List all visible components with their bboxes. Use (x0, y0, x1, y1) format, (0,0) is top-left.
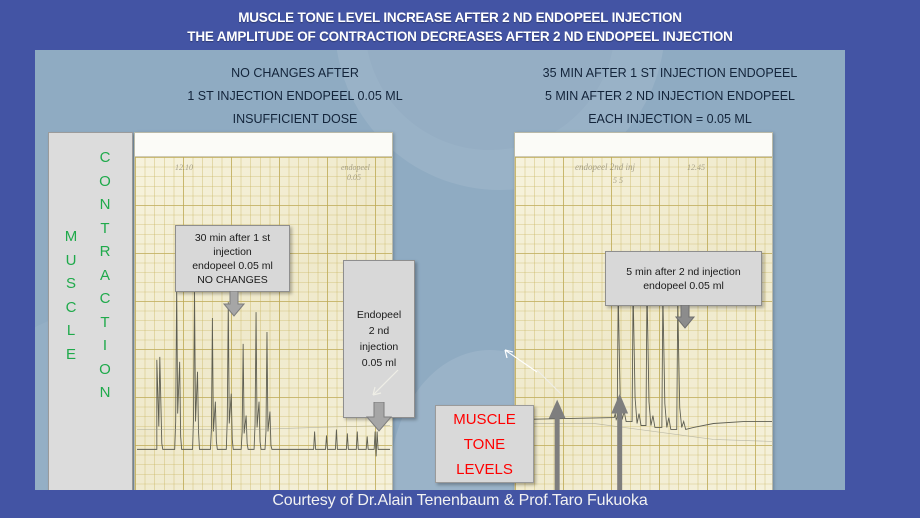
red-box-line: MUSCLE (453, 407, 516, 432)
callout-line: 0.05 ml (357, 355, 401, 371)
callout-3-down-arrow-icon (675, 305, 695, 329)
callout-line: Endopeel (357, 307, 401, 323)
handwriting-note: 5 5 (613, 176, 623, 185)
emg-chart-right: endopeel 2nd inj 5 5 12.45 00:32:48 (514, 132, 773, 490)
callout-line: 5 min after 2 nd injection (626, 265, 740, 279)
legend-letter: T (91, 311, 119, 335)
tone-level-arrow-icon (549, 394, 628, 490)
handwriting-note: 0.05 (347, 173, 361, 182)
callout-line: injection (192, 245, 273, 259)
emg-trace-right (515, 133, 772, 490)
slide-title: MUSCLE TONE LEVEL INCREASE AFTER 2 ND EN… (0, 8, 920, 46)
caption-left-line-2: 1 ST INJECTION ENDOPEEL 0.05 ML (135, 85, 455, 108)
title-line-1: MUSCLE TONE LEVEL INCREASE AFTER 2 ND EN… (0, 8, 920, 27)
callout-first-injection: 30 min after 1 st injection endopeel 0.0… (175, 225, 290, 292)
callout-line: 2 nd (357, 323, 401, 339)
legend-letter: C (57, 296, 85, 320)
legend-word-muscle: M U S C L E (57, 225, 85, 366)
caption-left: NO CHANGES AFTER 1 ST INJECTION ENDOPEEL… (135, 62, 455, 131)
legend-word-contraction: C O N T R A C T I O N (91, 146, 119, 405)
title-line-2: THE AMPLITUDE OF CONTRACTION DECREASES A… (0, 27, 920, 46)
handwriting-note: endopeel (341, 163, 370, 172)
legend-letter: R (91, 240, 119, 264)
legend-letter: C (91, 146, 119, 170)
red-box-line: LEVELS (453, 457, 516, 482)
muscle-contraction-legend: M U S C L E C O N T R A C T I O N (48, 132, 133, 490)
legend-letter: I (91, 334, 119, 358)
legend-letter: T (91, 217, 119, 241)
slide-root: MUSCLE TONE LEVEL INCREASE AFTER 2 ND EN… (0, 0, 920, 518)
caption-right: 35 MIN AFTER 1 ST INJECTION ENDOPEEL 5 M… (490, 62, 845, 131)
legend-letter: E (57, 343, 85, 367)
footer-credit: Courtesy of Dr.Alain Tenenbaum & Prof.Ta… (0, 492, 920, 510)
legend-letter: M (57, 225, 85, 249)
handwriting-note: endopeel 2nd inj (575, 162, 635, 172)
callout-line: endopeel 0.05 ml (192, 259, 273, 273)
callout-line: injection (357, 339, 401, 355)
callout-line: 30 min after 1 st (192, 231, 273, 245)
callout-2-down-arrow-icon (366, 402, 392, 432)
caption-right-line-2: 5 MIN AFTER 2 ND INJECTION ENDOPEEL (490, 85, 845, 108)
legend-letter: U (57, 249, 85, 273)
legend-letter: O (91, 170, 119, 194)
legend-letter: O (91, 358, 119, 382)
caption-right-line-1: 35 MIN AFTER 1 ST INJECTION ENDOPEEL (490, 62, 845, 85)
legend-letter: L (57, 319, 85, 343)
handwriting-note: 12.45 (687, 163, 705, 172)
handwriting-note: 12.10 (175, 163, 193, 172)
legend-letter: N (91, 381, 119, 405)
callout-line: endopeel 0.05 ml (626, 279, 740, 293)
content-panel: NO CHANGES AFTER 1 ST INJECTION ENDOPEEL… (35, 50, 845, 490)
muscle-tone-levels-box: MUSCLE TONE LEVELS (435, 405, 534, 483)
legend-letter: N (91, 193, 119, 217)
caption-left-line-3: INSUFFICIENT DOSE (135, 108, 455, 131)
legend-letter: C (91, 287, 119, 311)
legend-letter: S (57, 272, 85, 296)
red-box-line: TONE (453, 432, 516, 457)
caption-left-line-1: NO CHANGES AFTER (135, 62, 455, 85)
callout-line: NO CHANGES (192, 273, 273, 287)
callout-1-down-arrow-icon (223, 291, 245, 317)
callout-second-injection: Endopeel 2 nd injection 0.05 ml (343, 260, 415, 418)
caption-right-line-3: EACH INJECTION = 0.05 ML (490, 108, 845, 131)
legend-letter: A (91, 264, 119, 288)
callout-five-min: 5 min after 2 nd injection endopeel 0.05… (605, 251, 762, 306)
